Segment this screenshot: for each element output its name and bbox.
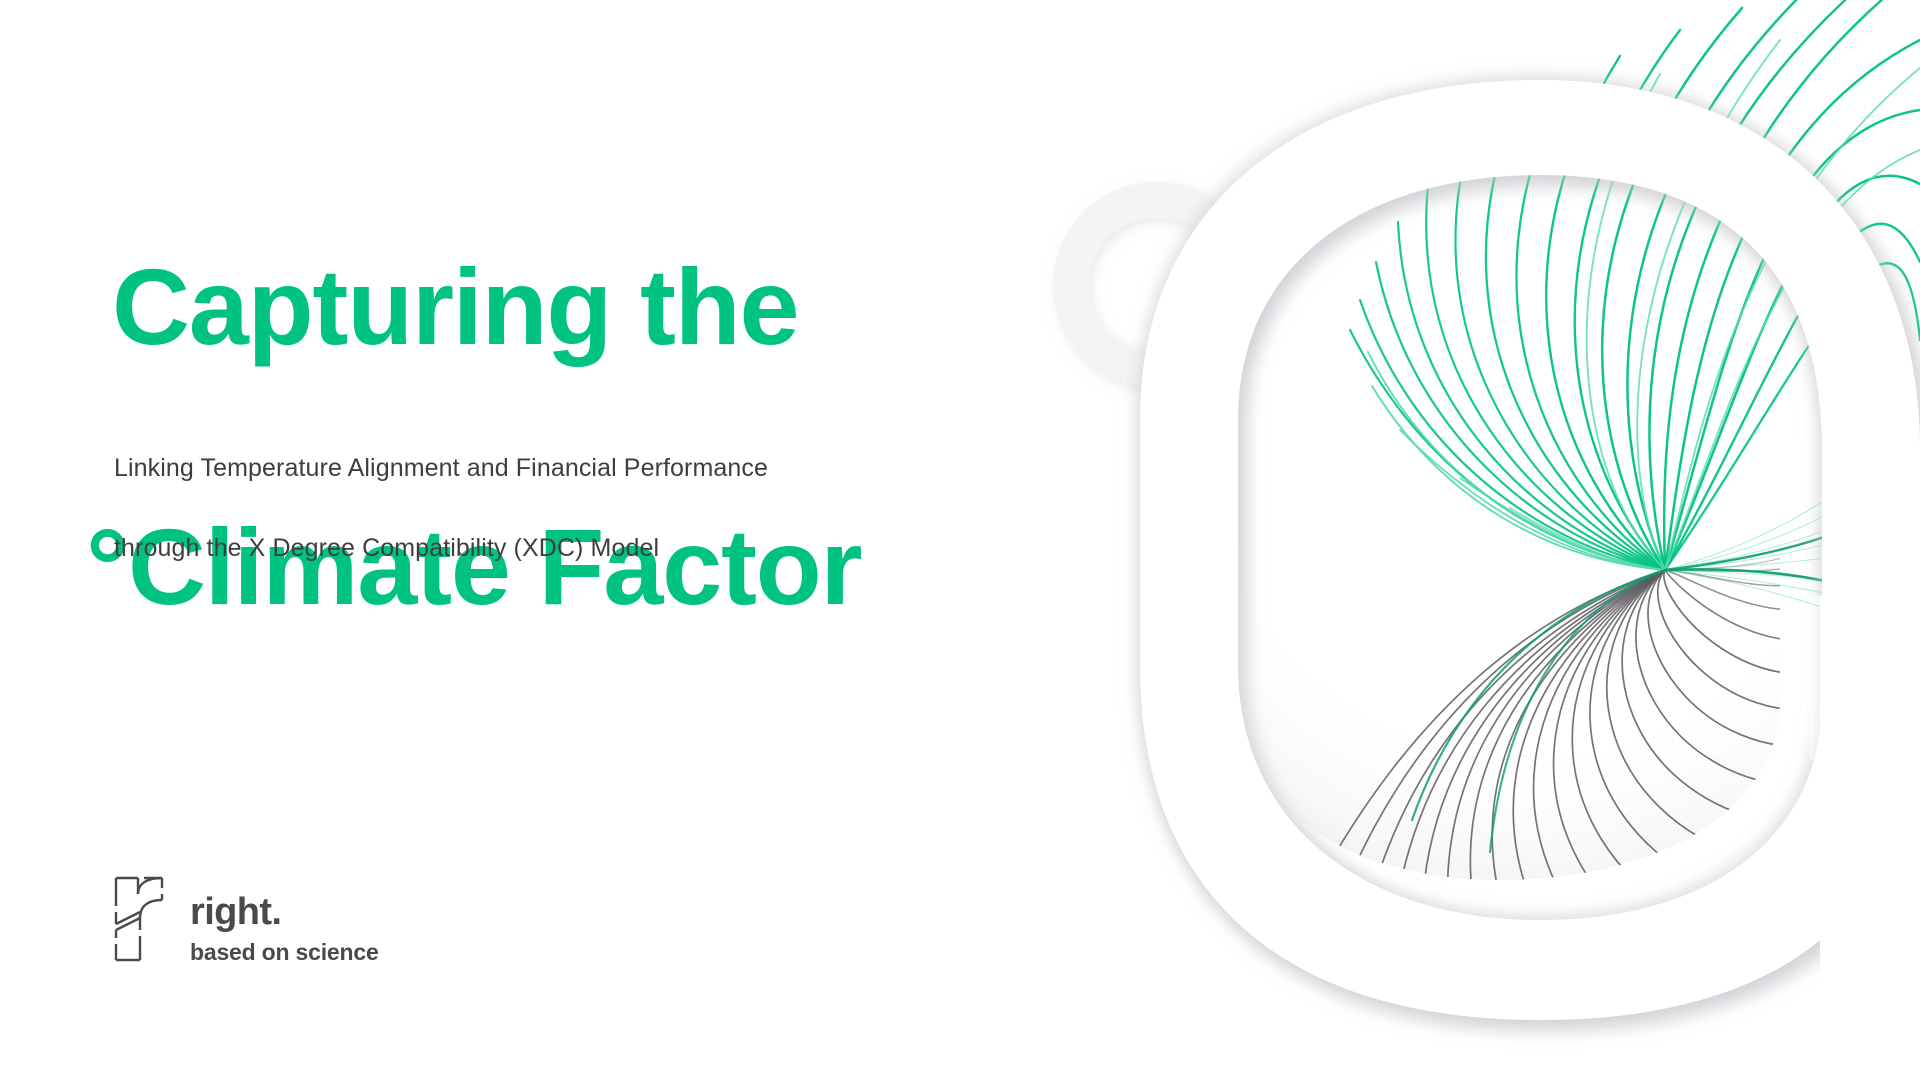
page-subtitle-line-1: Linking Temperature Alignment and Financ… [114,454,768,482]
big-c-glyph [1140,80,1920,1020]
c-glyph-notch [1852,600,1920,1080]
c-glyph-notch-2 [1810,596,1920,760]
green-line-fan [1350,0,1920,852]
climate-c-glyph-artwork [1020,0,1920,1080]
degree-ring-icon [1071,200,1241,370]
c-glyph-terminal-cut [1820,596,1920,1080]
right-r-outline-icon [112,868,168,966]
page-title-line-1: Capturing the [112,242,952,372]
page-subtitle-line-2: through the X Degree Compatibility (XDC)… [114,534,659,562]
page-subtitle: Linking Temperature Alignment and Financ… [114,408,934,568]
c-glyph-overlay [1140,80,1920,1020]
title-slide: Capturing the °Climate Factor Linking Te… [0,0,1920,1080]
logo-tagline: based on science [190,937,379,967]
gray-line-fan [1320,414,1916,972]
text-column: Capturing the °Climate Factor Linking Te… [0,0,1000,1080]
logo-name: right. [190,892,379,932]
brand-logo: right. based on science [112,868,379,967]
logo-wordmark: right. based on science [190,868,379,967]
